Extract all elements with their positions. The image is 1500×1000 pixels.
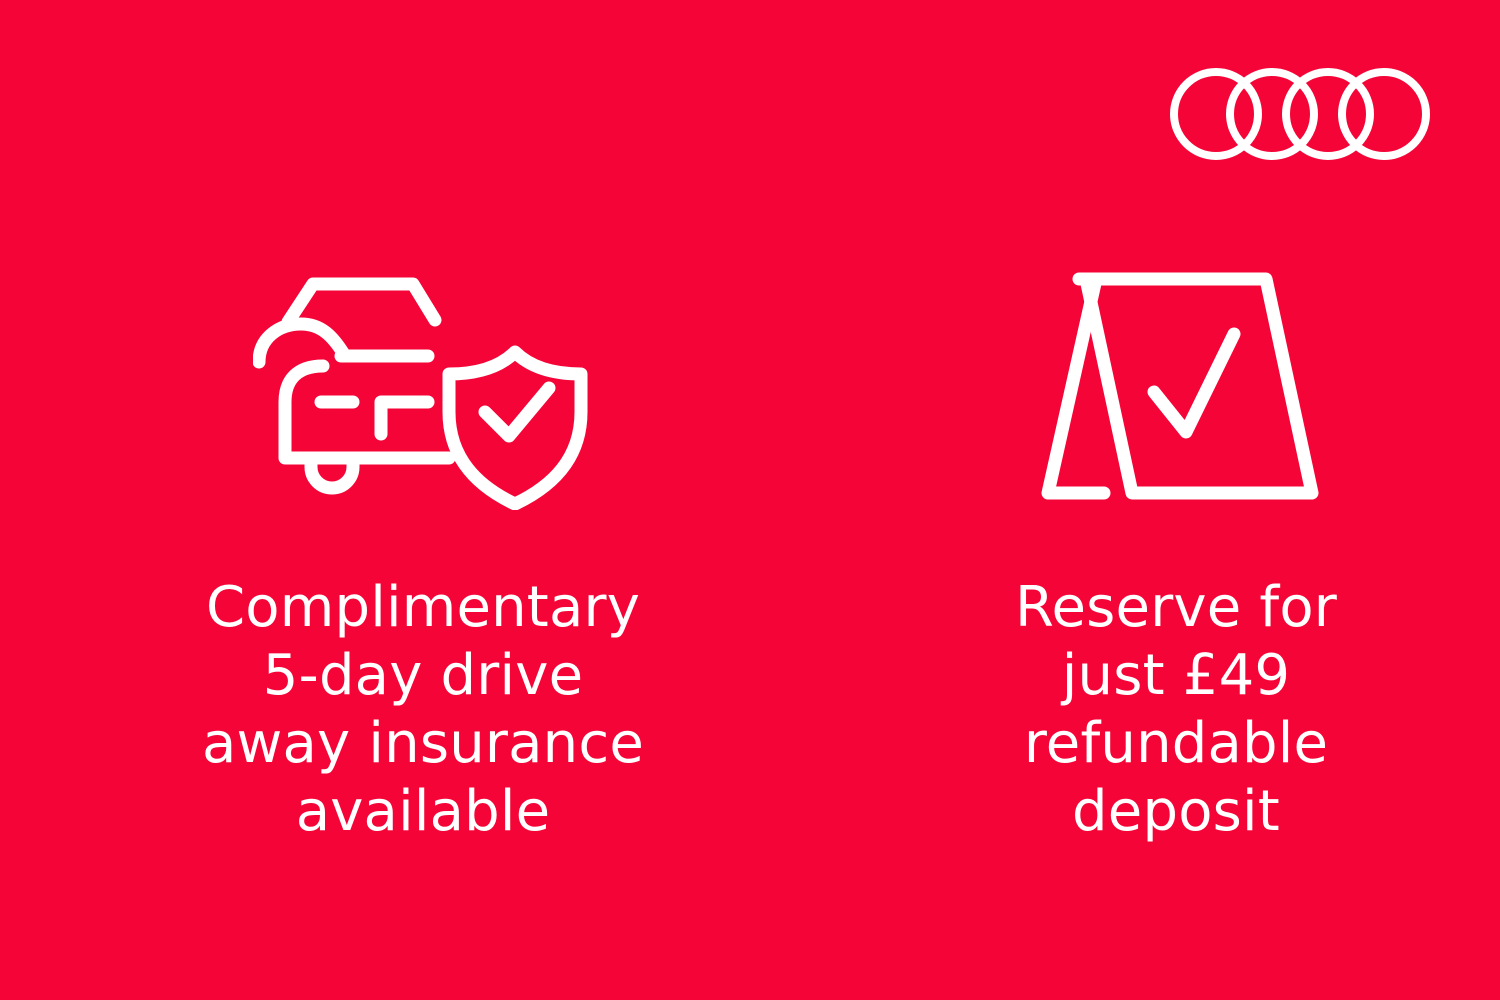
tent-card-checkmark-icon (1024, 262, 1324, 510)
feature-list: Complimentary 5-day drive away insurance… (0, 0, 1500, 1000)
promo-banner: Complimentary 5-day drive away insurance… (0, 0, 1500, 1000)
car-roof-line (288, 284, 435, 322)
car-body-outline (285, 366, 449, 458)
car-bonnet-curve (259, 324, 345, 362)
feature-drive-away-insurance: Complimentary 5-day drive away insurance… (0, 0, 846, 846)
feature-headline-deposit: Reserve for just £49 refundable deposit (916, 574, 1436, 846)
car-door-panel (381, 402, 428, 434)
car-shield-insurance-icon (253, 262, 593, 510)
tent-card-front-panel (1086, 279, 1312, 493)
feature-refundable-deposit: Reserve for just £49 refundable deposit (846, 0, 1500, 846)
tent-card-check-icon (1154, 334, 1234, 432)
shield-check-icon (485, 388, 549, 436)
feature-headline-insurance: Complimentary 5-day drive away insurance… (103, 574, 743, 846)
